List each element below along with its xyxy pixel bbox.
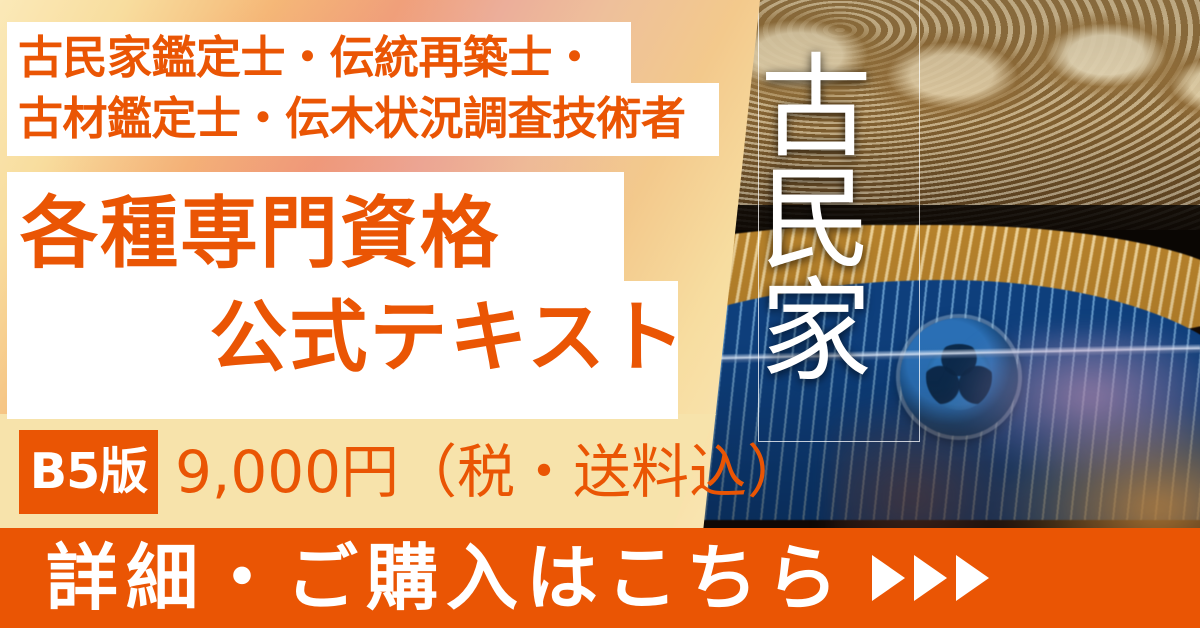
headline-line-2: 古材鑑定士・伝木状況調査技術者 [18,88,718,149]
triangle-right-icon [872,555,905,601]
cta-bar[interactable]: 詳細・ご購入はこちら [0,528,1200,628]
book-title: 古民家 [760,6,915,436]
price-text: 9,000円（税・送料込） [175,430,805,514]
subheadline-line-1: 各種専門資格 [20,189,500,279]
subheadline-line-2: 公式テキスト [20,286,700,390]
subheadline: 各種専門資格 公式テキスト [20,182,700,390]
headline-line-1: 古民家鑑定士・伝統再築士・ [18,31,597,84]
cta-arrows [872,555,989,601]
headline: 古民家鑑定士・伝統再築士・ 古材鑑定士・伝木状況調査技術者 [18,27,718,149]
promo-banner: 伝統構法 古民家活用のための調査と再生の 古民家 古民家鑑定士・伝統再築士・ 古… [0,0,1200,628]
cta-label: 詳細・ご購入はこちら [46,528,846,628]
format-badge: B5版 [19,430,158,514]
triangle-right-icon [956,555,989,601]
triangle-right-icon [914,555,947,601]
